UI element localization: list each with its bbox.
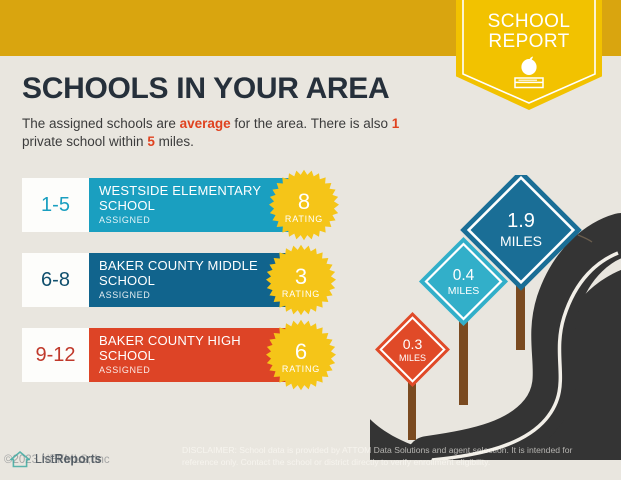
- grade-range-badge: 1-5: [22, 178, 89, 232]
- page-title: SCHOOLS IN YOUR AREA: [22, 72, 389, 106]
- rating-value: 8: [298, 191, 310, 213]
- badge-title-line1: SCHOOL: [456, 12, 602, 32]
- grade-range-badge: 6-8: [22, 253, 89, 307]
- house-logo-icon: [10, 450, 30, 468]
- subtitle-highlight-miles: 5: [147, 134, 155, 149]
- school-name: BAKER COUNTY MIDDLE SCHOOL: [99, 259, 284, 288]
- subtitle-highlight-count: 1: [392, 116, 400, 131]
- sign-value: 0.3: [403, 336, 423, 352]
- distance-sign-1: 0.3 MILES: [375, 312, 450, 387]
- subtitle-part2: for the area. There is also: [231, 116, 392, 131]
- subtitle-highlight-average: average: [180, 116, 231, 131]
- road-illustration: 1.9 MILES 0.4 MILES 0.3 MILES: [370, 175, 621, 460]
- school-status: ASSIGNED: [99, 215, 150, 225]
- rating-label: RATING: [282, 289, 320, 299]
- sign-unit: MILES: [500, 233, 542, 249]
- subtitle-part3: private school within: [22, 134, 147, 149]
- sign-value: 1.9: [507, 210, 535, 232]
- school-name: BAKER COUNTY HIGH SCHOOL: [99, 334, 284, 363]
- subtitle-part1: The assigned schools are: [22, 116, 180, 131]
- logo-text-light: List: [35, 452, 54, 466]
- sign-value: 0.4: [453, 267, 475, 284]
- sign-unit: MILES: [448, 285, 480, 297]
- rating-value: 3: [295, 266, 307, 288]
- rating-value: 6: [295, 341, 307, 363]
- school-row[interactable]: 1-5 WESTSIDE ELEMENTARY SCHOOL ASSIGNED: [22, 178, 307, 232]
- rating-label: RATING: [285, 214, 323, 224]
- school-report-badge: SCHOOL REPORT: [456, 0, 602, 110]
- logo-text-bold: Reports: [54, 452, 101, 466]
- subtitle-part4: miles.: [155, 134, 194, 149]
- school-status: ASSIGNED: [99, 365, 150, 375]
- grade-range-badge: 9-12: [22, 328, 89, 382]
- disclaimer-text: DISCLAIMER: School data is provided by A…: [182, 445, 582, 468]
- badge-title: SCHOOL REPORT: [456, 12, 602, 52]
- sign-unit: MILES: [399, 353, 426, 363]
- listreports-logo-text: ListReports: [35, 452, 102, 466]
- rating-starburst: 8 RATING: [268, 169, 340, 241]
- listreports-logo[interactable]: ListReports: [10, 450, 102, 468]
- page-subtitle: The assigned schools are average for the…: [22, 115, 442, 151]
- rating-starburst: 6 RATING: [265, 319, 337, 391]
- rating-starburst: 3 RATING: [265, 244, 337, 316]
- school-status: ASSIGNED: [99, 290, 150, 300]
- school-name: WESTSIDE ELEMENTARY SCHOOL: [99, 184, 284, 213]
- rating-label: RATING: [282, 364, 320, 374]
- badge-title-line2: REPORT: [456, 32, 602, 52]
- infographic-page: GREYSTONE SCHOOL REPORT SCHOOLS IN YOUR …: [0, 0, 621, 480]
- apple-on-book-icon: [506, 56, 552, 92]
